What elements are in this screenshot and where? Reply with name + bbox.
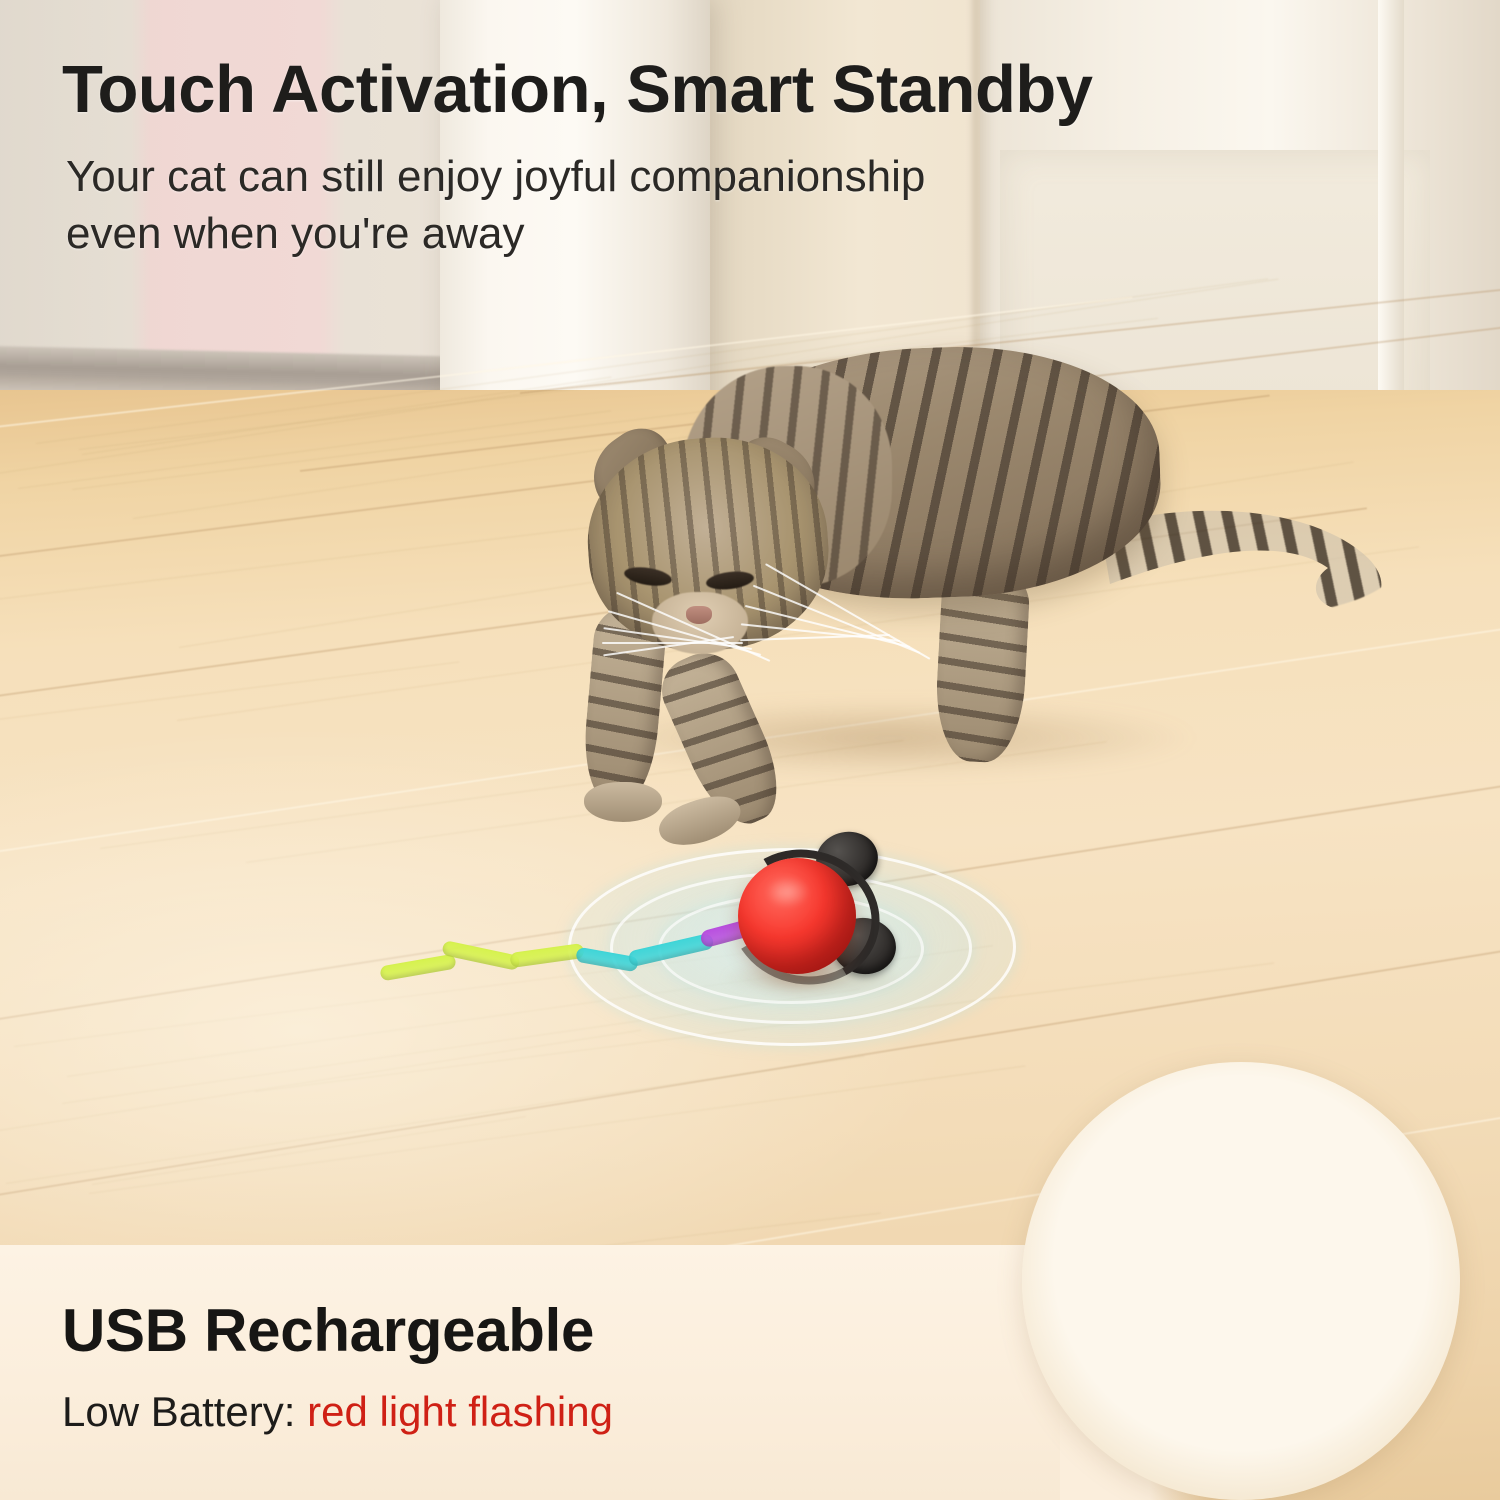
feature-title: USB Rechargeable	[62, 1296, 594, 1365]
cat-whiskers	[602, 602, 902, 722]
toy-ball	[738, 858, 856, 974]
feature-panel	[0, 1245, 1120, 1500]
battery-label: Low Battery:	[62, 1388, 295, 1435]
toy-tail-segment	[379, 954, 456, 982]
usb-charging-inset	[1022, 1062, 1460, 1500]
product-marketing-image: Touch Activation, Smart Standby Your cat…	[0, 0, 1500, 1500]
toy-tail	[370, 908, 790, 998]
cat-toy-assembly	[370, 820, 1010, 1060]
subtitle-line-1: Your cat can still enjoy joyful companio…	[66, 148, 1316, 205]
tabby-cat	[540, 330, 1360, 790]
toy-ball-highlight	[766, 876, 810, 908]
battery-status-line: Low Battery: red light flashing	[62, 1388, 613, 1436]
subtitle-line-2: even when you're away	[66, 205, 1316, 262]
status-badge: red light flashing	[307, 1388, 613, 1435]
cat-paw-left	[584, 782, 662, 822]
toy-tail-segment	[509, 943, 584, 968]
page-title: Touch Activation, Smart Standby	[62, 54, 1462, 125]
page-subtitle: Your cat can still enjoy joyful companio…	[66, 148, 1316, 262]
